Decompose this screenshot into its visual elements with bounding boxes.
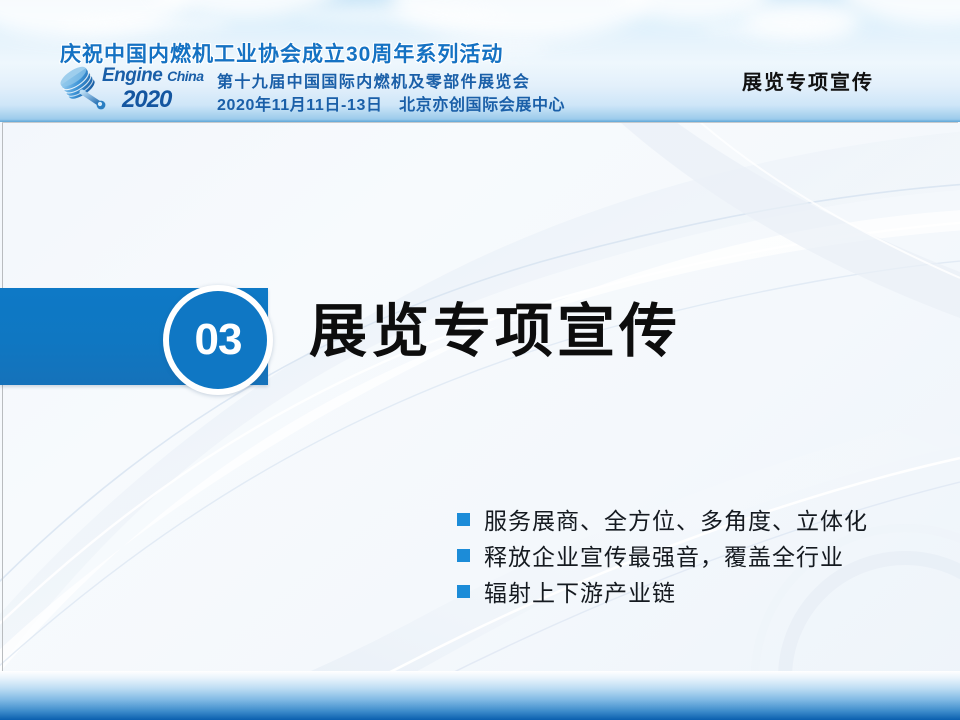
list-item: 释放企业宣传最强音，覆盖全行业 (457, 540, 927, 570)
square-bullet-icon (457, 585, 470, 598)
cloud-streak (700, 24, 850, 36)
logo-engine-text: Engine (102, 65, 162, 86)
slide-body (0, 122, 960, 720)
list-item-label: 辐射上下游产业链 (484, 574, 676, 608)
background-swoosh-decoration (0, 122, 960, 720)
list-item-label: 释放企业宣传最强音，覆盖全行业 (484, 538, 844, 572)
list-item: 服务展商、全方位、多角度、立体化 (457, 504, 927, 534)
bullet-list: 服务展商、全方位、多角度、立体化 释放企业宣传最强音，覆盖全行业 辐射上下游产业… (457, 504, 927, 612)
header-section-label: 展览专项宣传 (742, 66, 874, 95)
body-top-border (2, 122, 958, 123)
section-number-badge: 03 (169, 291, 267, 389)
square-bullet-icon (457, 513, 470, 526)
section-number-text: 03 (195, 318, 242, 362)
logo-year: 2020 (122, 86, 171, 114)
engine-china-logo: Engine China 2020 (60, 63, 212, 113)
list-item-label: 服务展商、全方位、多角度、立体化 (484, 502, 868, 536)
cloud-streak (60, 16, 230, 32)
expo-date-venue-line: 2020年11月11日-13日 北京亦创国际会展中心 (217, 91, 565, 115)
section-title: 展览专项宣传 (309, 300, 681, 364)
body-left-border (2, 122, 3, 678)
piston-icon (60, 64, 106, 112)
logo-china-text: China (167, 68, 203, 84)
logo-wordmark: Engine China (102, 65, 204, 87)
square-bullet-icon (457, 549, 470, 562)
slide-canvas: 庆祝中国内燃机工业协会成立30周年系列活动 (0, 0, 960, 720)
cloud-streak (300, 8, 510, 22)
footer-band (0, 671, 960, 720)
expo-name-line: 第十九届中国国际内燃机及零部件展览会 (217, 68, 530, 92)
list-item: 辐射上下游产业链 (457, 576, 927, 606)
